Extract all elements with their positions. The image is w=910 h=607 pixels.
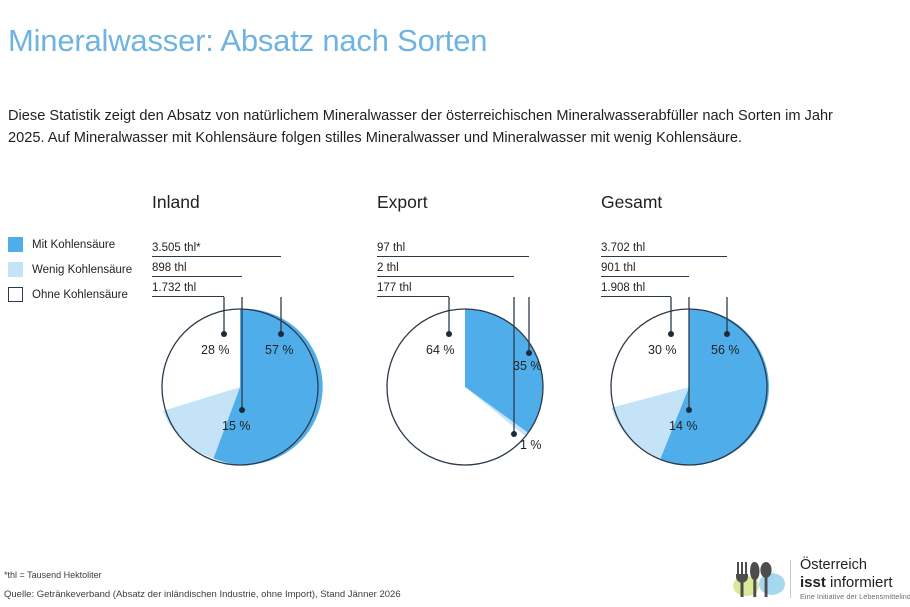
pct-label-gesamt-wenig: 14 %	[669, 419, 698, 433]
pct-label-inland-ohne: 28 %	[201, 343, 230, 357]
callout-row-gesamt-1: 901 thl	[601, 257, 831, 277]
page-title: Mineralwasser: Absatz nach Sorten	[8, 23, 487, 59]
leader-dot-gesamt-wenig	[686, 407, 692, 413]
logo-tagline: Eine Initiative der Lebensmittelindustri…	[800, 592, 910, 601]
pie-area-inland: 57 % 15 % 28 %	[152, 297, 382, 487]
callout-value-export-ohne: 177 thl	[377, 282, 412, 294]
callout-row-inland-2: 1.732 thl	[152, 277, 382, 297]
callout-value-inland-ohne: 1.732 thl	[152, 282, 196, 294]
pct-label-inland-wenig: 15 %	[222, 419, 251, 433]
callout-row-inland-1: 898 thl	[152, 257, 382, 277]
callout-row-export-0: 97 thl	[377, 237, 607, 257]
footnote: *thl = Tausend Hektoliter	[4, 570, 102, 580]
legend-label-wenig-kohlensaeure: Wenig Kohlensäure	[32, 264, 132, 276]
leader-dot-gesamt-mit	[724, 331, 730, 337]
callout-value-inland-wenig: 898 thl	[152, 262, 187, 274]
logo-line-oesterreich: Österreich	[800, 557, 867, 573]
logo-line-isst-informiert: isst informiert	[800, 574, 893, 591]
pct-label-gesamt-ohne: 30 %	[648, 343, 677, 357]
legend-item-ohne-kohlensaeure: Ohne Kohlensäure	[8, 282, 132, 307]
chart-gesamt: Gesamt 3.702 thl 901 thl 1.908 thl	[601, 192, 831, 487]
pie-chart-inland	[152, 297, 382, 487]
legend-swatch-mit-kohlensaeure	[8, 237, 23, 252]
chart-inland: Inland 3.505 thl* 898 thl 1.732 thl	[152, 192, 382, 487]
pie-area-export: 35 % 1 % 64 %	[377, 297, 607, 487]
description-paragraph: Diese Statistik zeigt den Absatz von nat…	[8, 105, 858, 149]
legend-label-mit-kohlensaeure: Mit Kohlensäure	[32, 239, 115, 251]
callout-value-gesamt-ohne: 1.908 thl	[601, 282, 645, 294]
chart-title-gesamt: Gesamt	[601, 192, 831, 213]
leader-dot-inland-wenig	[239, 407, 245, 413]
leader-dot-gesamt-ohne	[668, 331, 674, 337]
legend-item-wenig-kohlensaeure: Wenig Kohlensäure	[8, 257, 132, 282]
logo-divider	[790, 560, 791, 598]
pct-label-export-mit: 35 %	[513, 359, 542, 373]
callout-value-gesamt-mit: 3.702 thl	[601, 242, 645, 254]
leader-dot-export-wenig	[511, 431, 517, 437]
chart-title-export: Export	[377, 192, 607, 213]
legend-swatch-ohne-kohlensaeure	[8, 287, 23, 302]
pct-label-inland-mit: 57 %	[265, 343, 294, 357]
logo-isst: isst	[800, 574, 826, 591]
source-note: Quelle: Getränkeverband (Absatz der inlä…	[4, 589, 401, 600]
callout-row-inland-0: 3.505 thl*	[152, 237, 382, 257]
leader-dot-export-mit	[526, 350, 532, 356]
leader-dot-inland-ohne	[221, 331, 227, 337]
callout-row-export-2: 177 thl	[377, 277, 607, 297]
cutlery-icon	[730, 556, 788, 602]
logo-informiert: informiert	[826, 574, 893, 591]
callout-row-gesamt-2: 1.908 thl	[601, 277, 831, 297]
pie-area-gesamt: 56 % 14 % 30 %	[601, 297, 831, 487]
legend-swatch-wenig-kohlensaeure	[8, 262, 23, 277]
chart-export: Export 97 thl 2 thl 177 thl	[377, 192, 607, 487]
pct-label-export-wenig: 1 %	[520, 438, 542, 452]
callouts-gesamt: 3.702 thl 901 thl 1.908 thl	[601, 237, 831, 297]
callout-value-export-mit: 97 thl	[377, 242, 405, 254]
legend: Mit Kohlensäure Wenig Kohlensäure Ohne K…	[8, 232, 132, 307]
logo: Österreich isst informiert Eine Initiati…	[730, 556, 906, 604]
callouts-inland: 3.505 thl* 898 thl 1.732 thl	[152, 237, 382, 297]
callout-value-gesamt-wenig: 901 thl	[601, 262, 636, 274]
legend-item-mit-kohlensaeure: Mit Kohlensäure	[8, 232, 132, 257]
legend-label-ohne-kohlensaeure: Ohne Kohlensäure	[32, 289, 128, 301]
pct-label-gesamt-mit: 56 %	[711, 343, 740, 357]
leader-dot-export-ohne	[446, 331, 452, 337]
callout-row-gesamt-0: 3.702 thl	[601, 237, 831, 257]
callouts-export: 97 thl 2 thl 177 thl	[377, 237, 607, 297]
leader-dot-inland-mit	[278, 331, 284, 337]
chart-title-inland: Inland	[152, 192, 382, 213]
callout-row-export-1: 2 thl	[377, 257, 607, 277]
callout-value-inland-mit: 3.505 thl*	[152, 242, 201, 254]
callout-value-export-wenig: 2 thl	[377, 262, 399, 274]
pie-chart-gesamt	[601, 297, 831, 487]
pct-label-export-ohne: 64 %	[426, 343, 455, 357]
pie-chart-export	[377, 297, 607, 487]
